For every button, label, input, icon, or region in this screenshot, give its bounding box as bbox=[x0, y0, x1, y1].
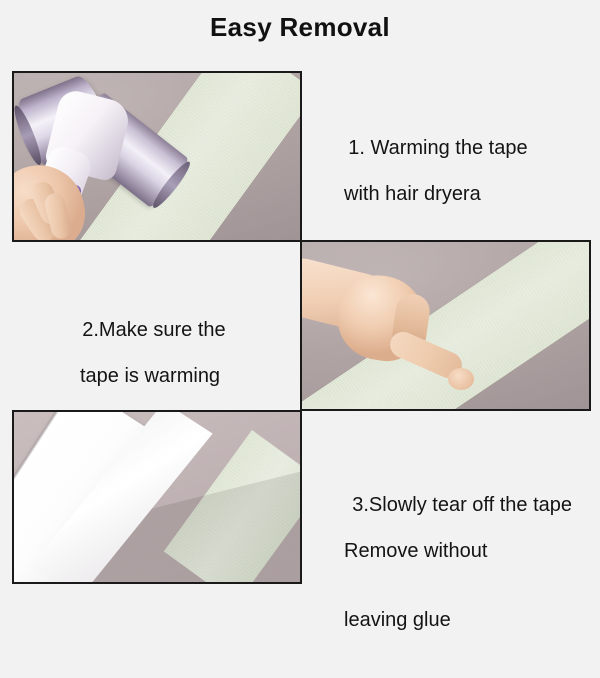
step-2-caption-line-2: tape is warming bbox=[60, 365, 226, 388]
step-2-image-panel bbox=[300, 240, 591, 411]
fingertip bbox=[448, 368, 474, 390]
step-3-caption-line-3: leaving glue bbox=[330, 609, 572, 632]
step-3-caption-line-2: Remove without bbox=[330, 540, 572, 563]
hair-dryer-warming-tape-photo bbox=[14, 73, 300, 240]
step-1-caption: 1. Warming the tape with hair dryera bbox=[326, 114, 528, 252]
step-3-caption: 3.Slowly tear off the tape Remove withou… bbox=[330, 471, 572, 678]
step-2-caption: 2.Make sure the tape is warming bbox=[60, 296, 226, 434]
step-1-image-panel bbox=[12, 71, 302, 242]
finger-touching-tape-photo bbox=[302, 242, 589, 409]
page-title: Easy Removal bbox=[0, 12, 600, 43]
step-3-caption-line-1: 3.Slowly tear off the tape bbox=[352, 494, 572, 516]
step-1-caption-line-2: with hair dryera bbox=[326, 183, 528, 206]
step-1-caption-line-1: 1. Warming the tape bbox=[348, 137, 527, 159]
easy-removal-infographic: Easy Removal bbox=[0, 0, 600, 600]
step-3-image-panel bbox=[12, 410, 302, 584]
peeling-tape-photo bbox=[14, 412, 300, 582]
step-2-caption-line-1: 2.Make sure the bbox=[82, 319, 225, 341]
